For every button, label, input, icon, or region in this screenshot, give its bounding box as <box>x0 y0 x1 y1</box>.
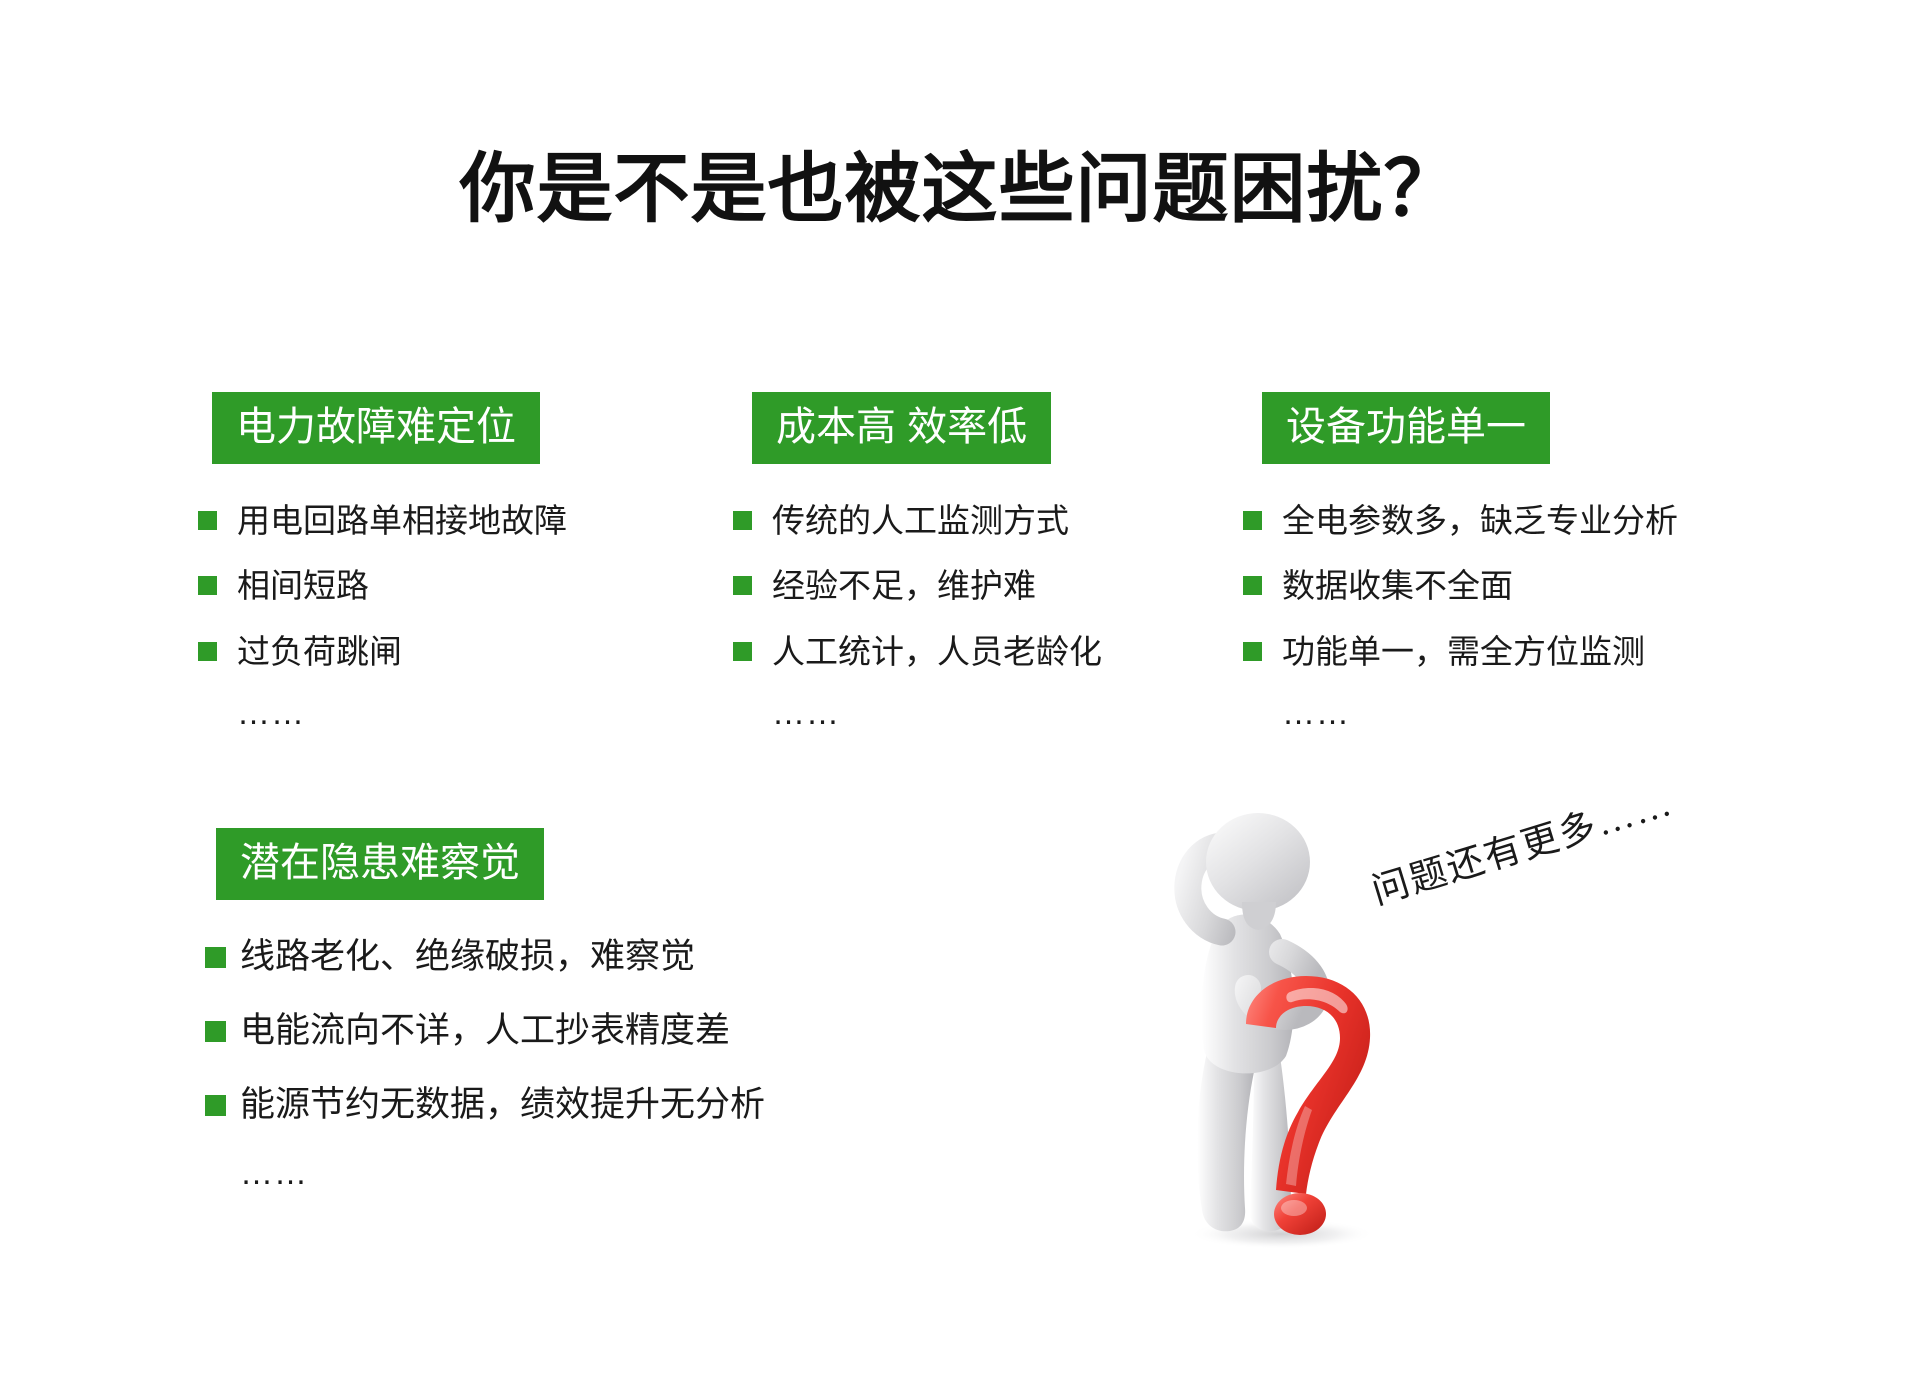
list-item: 人工统计，人员老龄化 <box>733 631 1173 672</box>
list-ellipsis: …… <box>1282 696 1723 729</box>
thinking-person-illustration <box>1150 810 1480 1250</box>
list-item-label: 数据收集不全面 <box>1282 565 1513 606</box>
list-item: 用电回路单相接地故障 <box>198 500 668 541</box>
square-bullet-icon <box>733 511 752 530</box>
list-ellipsis: …… <box>240 1156 925 1189</box>
square-bullet-icon <box>198 511 217 530</box>
question-mark-dot-highlight <box>1281 1200 1307 1216</box>
figure-left-leg <box>1197 1048 1254 1231</box>
list-item-label: 线路老化、绝缘破损，难察觉 <box>240 935 695 979</box>
section-heading-power-fault: 电力故障难定位 <box>212 392 540 464</box>
bullet-list-cost-efficiency: 传统的人工监测方式 经验不足，维护难 人工统计，人员老龄化 …… <box>733 500 1173 729</box>
list-item: 经验不足，维护难 <box>733 565 1173 606</box>
list-item: 线路老化、绝缘破损，难察觉 <box>205 935 925 979</box>
square-bullet-icon <box>733 576 752 595</box>
section-heading-cost-efficiency: 成本高 效率低 <box>752 392 1051 464</box>
list-item: 电能流向不详，人工抄表精度差 <box>205 1009 925 1053</box>
list-item-label: 相间短路 <box>237 565 369 606</box>
list-item-label: 传统的人工监测方式 <box>772 500 1069 541</box>
list-item-label: 用电回路单相接地故障 <box>237 500 567 541</box>
section-heading-device-function: 设备功能单一 <box>1262 392 1550 464</box>
list-ellipsis: …… <box>772 696 1173 729</box>
square-bullet-icon <box>205 947 226 968</box>
list-item-label: 能源节约无数据，绩效提升无分析 <box>240 1083 765 1127</box>
list-item: 数据收集不全面 <box>1243 565 1723 606</box>
list-item: 相间短路 <box>198 565 668 606</box>
list-item: 功能单一，需全方位监测 <box>1243 631 1723 672</box>
square-bullet-icon <box>1243 576 1262 595</box>
section-heading-hidden-danger: 潜在隐患难察觉 <box>216 828 544 900</box>
list-item: 传统的人工监测方式 <box>733 500 1173 541</box>
list-item: 全电参数多，缺乏专业分析 <box>1243 500 1723 541</box>
list-ellipsis: …… <box>237 696 668 729</box>
square-bullet-icon <box>1243 511 1262 530</box>
bullet-list-device-function: 全电参数多，缺乏专业分析 数据收集不全面 功能单一，需全方位监测 …… <box>1243 500 1723 729</box>
list-item-label: 过负荷跳闸 <box>237 631 402 672</box>
page-title: 你是不是也被这些问题困扰？ <box>0 148 1920 232</box>
slide-root: 你是不是也被这些问题困扰？ 电力故障难定位 用电回路单相接地故障 相间短路 过负… <box>0 0 1920 1375</box>
bullet-list-power-fault: 用电回路单相接地故障 相间短路 过负荷跳闸 …… <box>198 500 668 729</box>
square-bullet-icon <box>733 642 752 661</box>
figure-head <box>1206 813 1310 911</box>
list-item: 能源节约无数据，绩效提升无分析 <box>205 1083 925 1127</box>
square-bullet-icon <box>205 1021 226 1042</box>
square-bullet-icon <box>1243 642 1262 661</box>
list-item-label: 全电参数多，缺乏专业分析 <box>1282 500 1678 541</box>
list-item-label: 功能单一，需全方位监测 <box>1282 631 1645 672</box>
list-item-label: 人工统计，人员老龄化 <box>772 631 1102 672</box>
square-bullet-icon <box>198 642 217 661</box>
list-item-label: 经验不足，维护难 <box>772 565 1036 606</box>
bullet-list-hidden-danger: 线路老化、绝缘破损，难察觉 电能流向不详，人工抄表精度差 能源节约无数据，绩效提… <box>205 935 925 1189</box>
list-item-label: 电能流向不详，人工抄表精度差 <box>240 1009 730 1053</box>
square-bullet-icon <box>205 1095 226 1116</box>
square-bullet-icon <box>198 576 217 595</box>
list-item: 过负荷跳闸 <box>198 631 668 672</box>
